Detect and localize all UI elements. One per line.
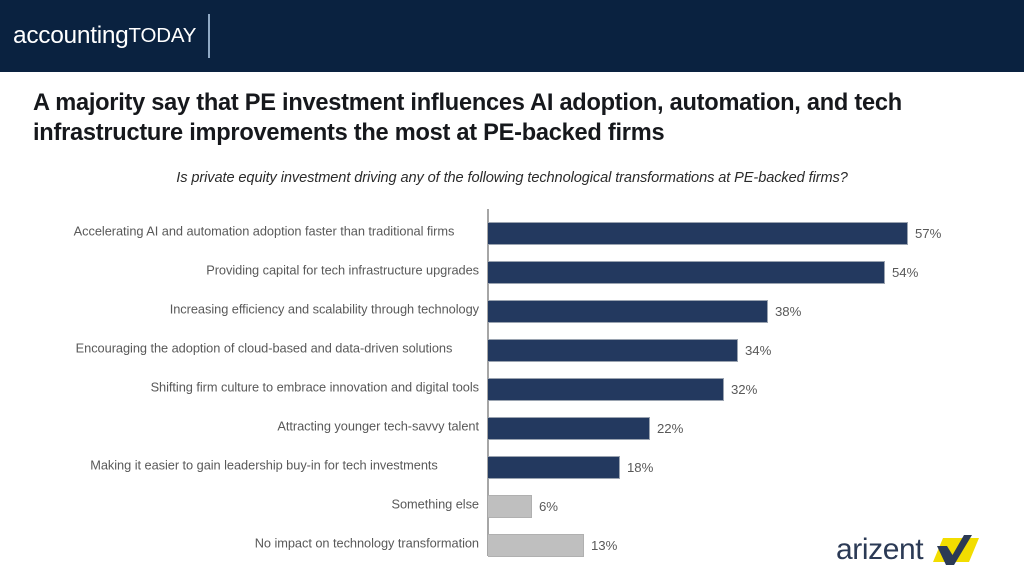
bar-rect[interactable] — [488, 417, 650, 440]
bar-value-label: 22% — [657, 421, 683, 436]
bar-chart: Accelerating AI and automation adoption … — [0, 204, 1024, 556]
bar-value-label: 38% — [775, 304, 801, 319]
bar-track: 34% — [488, 339, 771, 362]
brand-name-lower: accounting — [13, 24, 129, 49]
bar-row: Encouraging the adoption of cloud-based … — [0, 328, 1024, 367]
arizent-checkmark-icon — [933, 535, 979, 565]
bar-category-label: No impact on technology transformation — [49, 534, 479, 551]
bar-category-label: Increasing efficiency and scalability th… — [49, 300, 479, 317]
bar-value-label: 18% — [627, 460, 653, 475]
bar-row: Shifting firm culture to embrace innovat… — [0, 367, 1024, 406]
arizent-logo: arizent — [836, 533, 979, 567]
bar-rect[interactable] — [488, 534, 584, 557]
bar-value-label: 54% — [892, 265, 918, 280]
bar-value-label: 32% — [731, 382, 757, 397]
bar-category-label: Accelerating AI and automation adoption … — [49, 222, 479, 239]
bar-rect[interactable] — [488, 261, 885, 284]
bar-row: Accelerating AI and automation adoption … — [0, 211, 1024, 250]
bar-track: 38% — [488, 300, 801, 323]
bar-category-label: Something else — [49, 495, 479, 512]
brand-divider — [208, 14, 210, 58]
brand-name-upper: TODAY — [129, 26, 197, 47]
bar-track: 57% — [488, 222, 941, 245]
bar-row: Increasing efficiency and scalability th… — [0, 289, 1024, 328]
bar-track: 13% — [488, 534, 617, 557]
bar-track: 32% — [488, 378, 757, 401]
page-title: A majority say that PE investment influe… — [33, 88, 983, 148]
arizent-wordmark: arizent — [836, 535, 923, 565]
bar-rect[interactable] — [488, 339, 738, 362]
bar-track: 18% — [488, 456, 653, 479]
bar-rect[interactable] — [488, 378, 724, 401]
bar-category-label: Encouraging the adoption of cloud-based … — [49, 339, 479, 356]
bar-track: 22% — [488, 417, 683, 440]
bar-value-label: 13% — [591, 538, 617, 553]
bar-track: 6% — [488, 495, 558, 518]
bar-category-label: Attracting younger tech-savvy talent — [49, 417, 479, 434]
bar-category-label: Providing capital for tech infrastructur… — [49, 261, 479, 278]
bar-rect[interactable] — [488, 222, 908, 245]
bar-category-label: Making it easier to gain leadership buy-… — [49, 456, 479, 473]
bar-rect[interactable] — [488, 300, 768, 323]
bar-rect[interactable] — [488, 456, 620, 479]
bar-row: Providing capital for tech infrastructur… — [0, 250, 1024, 289]
header-band: accountingTODAY — [0, 0, 1024, 72]
bar-rect[interactable] — [488, 495, 532, 518]
slide-canvas: accountingTODAY A majority say that PE i… — [0, 0, 1024, 578]
bar-row: Making it easier to gain leadership buy-… — [0, 445, 1024, 484]
chart-subtitle: Is private equity investment driving any… — [60, 170, 964, 186]
bar-row: Something else6% — [0, 484, 1024, 523]
bar-row: Attracting younger tech-savvy talent22% — [0, 406, 1024, 445]
bar-track: 54% — [488, 261, 918, 284]
bar-value-label: 34% — [745, 343, 771, 358]
bar-category-label: Shifting firm culture to embrace innovat… — [49, 378, 479, 395]
accounting-today-logo: accountingTODAY — [13, 20, 196, 52]
bar-value-label: 6% — [539, 499, 558, 514]
bar-value-label: 57% — [915, 226, 941, 241]
